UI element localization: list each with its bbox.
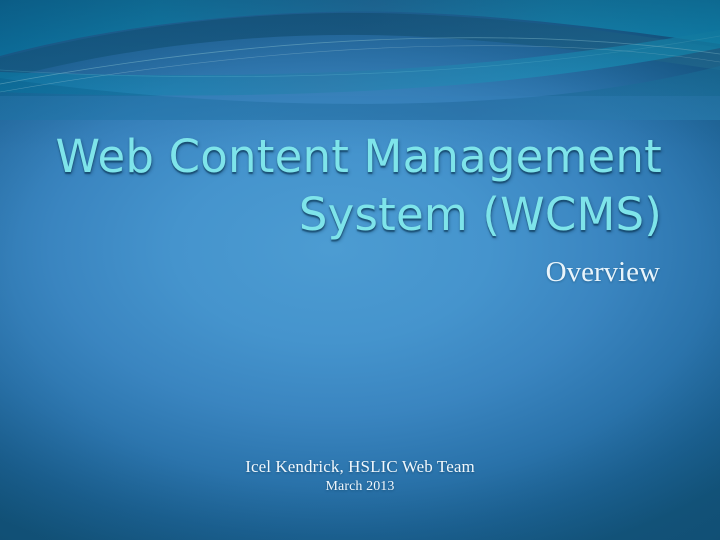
- title-line-1: Web Content Management: [48, 128, 662, 186]
- title-line-2: System (WCMS): [48, 186, 662, 244]
- credits-date: March 2013: [0, 477, 720, 496]
- slide-credits: Icel Kendrick, HSLIC Web Team March 2013: [0, 456, 720, 496]
- slide-subtitle: Overview: [48, 255, 660, 289]
- presentation-title-slide: Web Content Management System (WCMS) Ove…: [0, 0, 720, 540]
- credits-author: Icel Kendrick, HSLIC Web Team: [0, 456, 720, 477]
- slide-title: Web Content Management System (WCMS): [48, 128, 662, 244]
